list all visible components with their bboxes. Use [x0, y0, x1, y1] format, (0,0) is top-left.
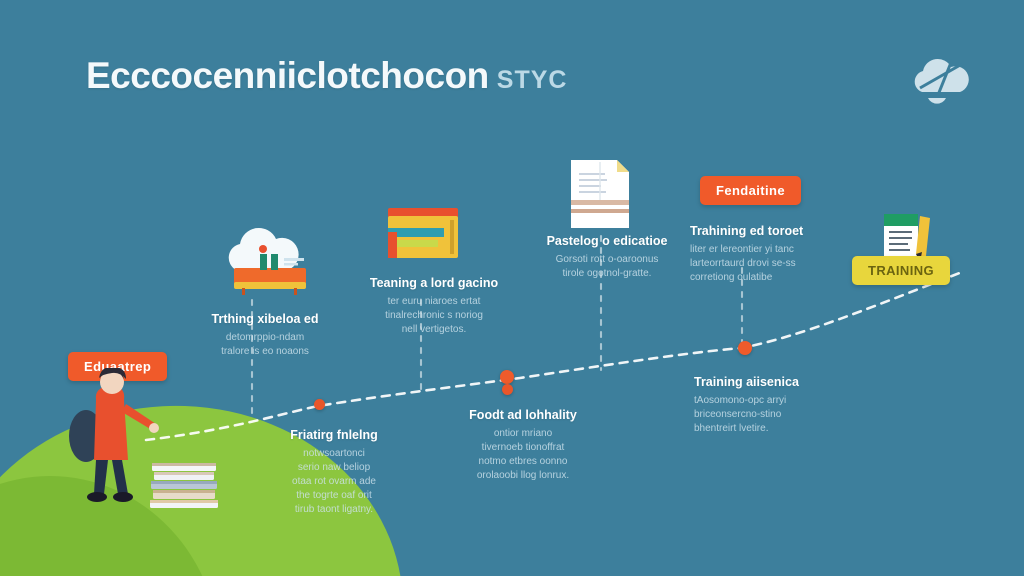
- callout-6-line-3: notmo etbres oonno: [448, 455, 598, 469]
- deadline-badge-label: Fendaitine: [716, 183, 785, 198]
- callout-3-line-1: Gorsoti rott o-oaroonus: [534, 253, 680, 267]
- book-binder-icon: [382, 202, 464, 264]
- callout-2-line-2: tinalrechronic s noriog: [358, 309, 510, 323]
- callout-7-line-2: briceonsercno-stino: [694, 408, 849, 422]
- callout-4-line-3: corretiong oulatibe: [690, 271, 855, 285]
- callout-1-title: Trthing xibeloa ed: [190, 312, 340, 328]
- document-page-icon: [565, 156, 635, 232]
- callout-3-line-2: tirole ogotnol-gratte.: [534, 267, 680, 281]
- callout-7-line-3: bhentreirt lvetire.: [694, 422, 849, 436]
- callout-3: Pastelog o edicatioe Gorsoti rott o-oaro…: [534, 234, 680, 281]
- callout-6: Foodt ad lohhality ontior mriano tiverno…: [448, 408, 598, 483]
- callout-1: Trthing xibeloa ed detomrppio-ndam tralo…: [190, 312, 340, 359]
- callout-7: Training aiisenica tAosomono-opc arryi b…: [694, 375, 849, 436]
- path-marker-4[interactable]: [738, 341, 752, 355]
- callout-5-line-4: the togrte oaf orit: [258, 489, 410, 503]
- callout-2-line-3: nell vertigetos.: [358, 323, 510, 337]
- callout-6-line-1: ontior mriano: [448, 427, 598, 441]
- callout-3-title: Pastelog o edicatioe: [534, 234, 680, 250]
- callout-7-line-1: tAosomono-opc arryi: [694, 394, 849, 408]
- callout-5-line-2: seriо naw beliop: [258, 461, 410, 475]
- title-main-text: Ecccocenniiclotchocon: [86, 55, 489, 97]
- callout-2-title: Teaning a lord gacino: [358, 276, 510, 292]
- callout-6-line-2: tivernoeb tionoffrat: [448, 441, 598, 455]
- training-badge-label: TRAINING: [868, 263, 934, 278]
- callout-4-line-1: liter er lereontier yi tanc: [690, 243, 855, 257]
- callout-6-title: Foodt ad lohhality: [448, 408, 598, 424]
- infographic-canvas: Ecccocenniiclotchocon STYC: [0, 0, 1024, 576]
- page-title: Ecccocenniiclotchocon STYC: [86, 55, 567, 97]
- callout-5-line-3: otaa rot ovarm ade: [258, 475, 410, 489]
- callout-5-line-1: notwsoartonci: [258, 447, 410, 461]
- callout-4: Trahining ed toroet liter er lereontier …: [690, 224, 855, 285]
- path-marker-3[interactable]: [502, 384, 513, 395]
- callout-4-title: Trahining ed toroet: [690, 224, 855, 240]
- training-badge[interactable]: TRAINING: [852, 256, 950, 285]
- title-sub-text: STYC: [497, 66, 568, 95]
- path-marker-2[interactable]: [500, 370, 514, 384]
- deadline-badge[interactable]: Fendaitine: [700, 176, 801, 205]
- book-stack: [148, 458, 220, 510]
- callout-5-line-5: tirub taont ligatny.: [258, 503, 410, 517]
- callout-1-line-1: detomrppio-ndam: [190, 331, 340, 345]
- callout-1-line-2: tralore is eo noaons: [190, 345, 340, 359]
- path-marker-1[interactable]: [314, 399, 325, 410]
- callout-5-title: Friatirg fnlelng: [258, 428, 410, 444]
- callout-2-line-1: ter euru niaroes ertat: [358, 295, 510, 309]
- callout-6-line-4: orolaoobi llog lonrux.: [448, 469, 598, 483]
- callout-7-title: Training aiisenica: [694, 375, 849, 391]
- cloud-logo-icon: [906, 48, 976, 108]
- callout-5: Friatirg fnlelng notwsoartonci seriо naw…: [258, 428, 410, 518]
- callout-4-line-2: larteorrtaurd drovi se-ss: [690, 257, 855, 271]
- callout-2: Teaning a lord gacino ter euru niaroes e…: [358, 276, 510, 337]
- cloud-building-icon: [222, 218, 318, 298]
